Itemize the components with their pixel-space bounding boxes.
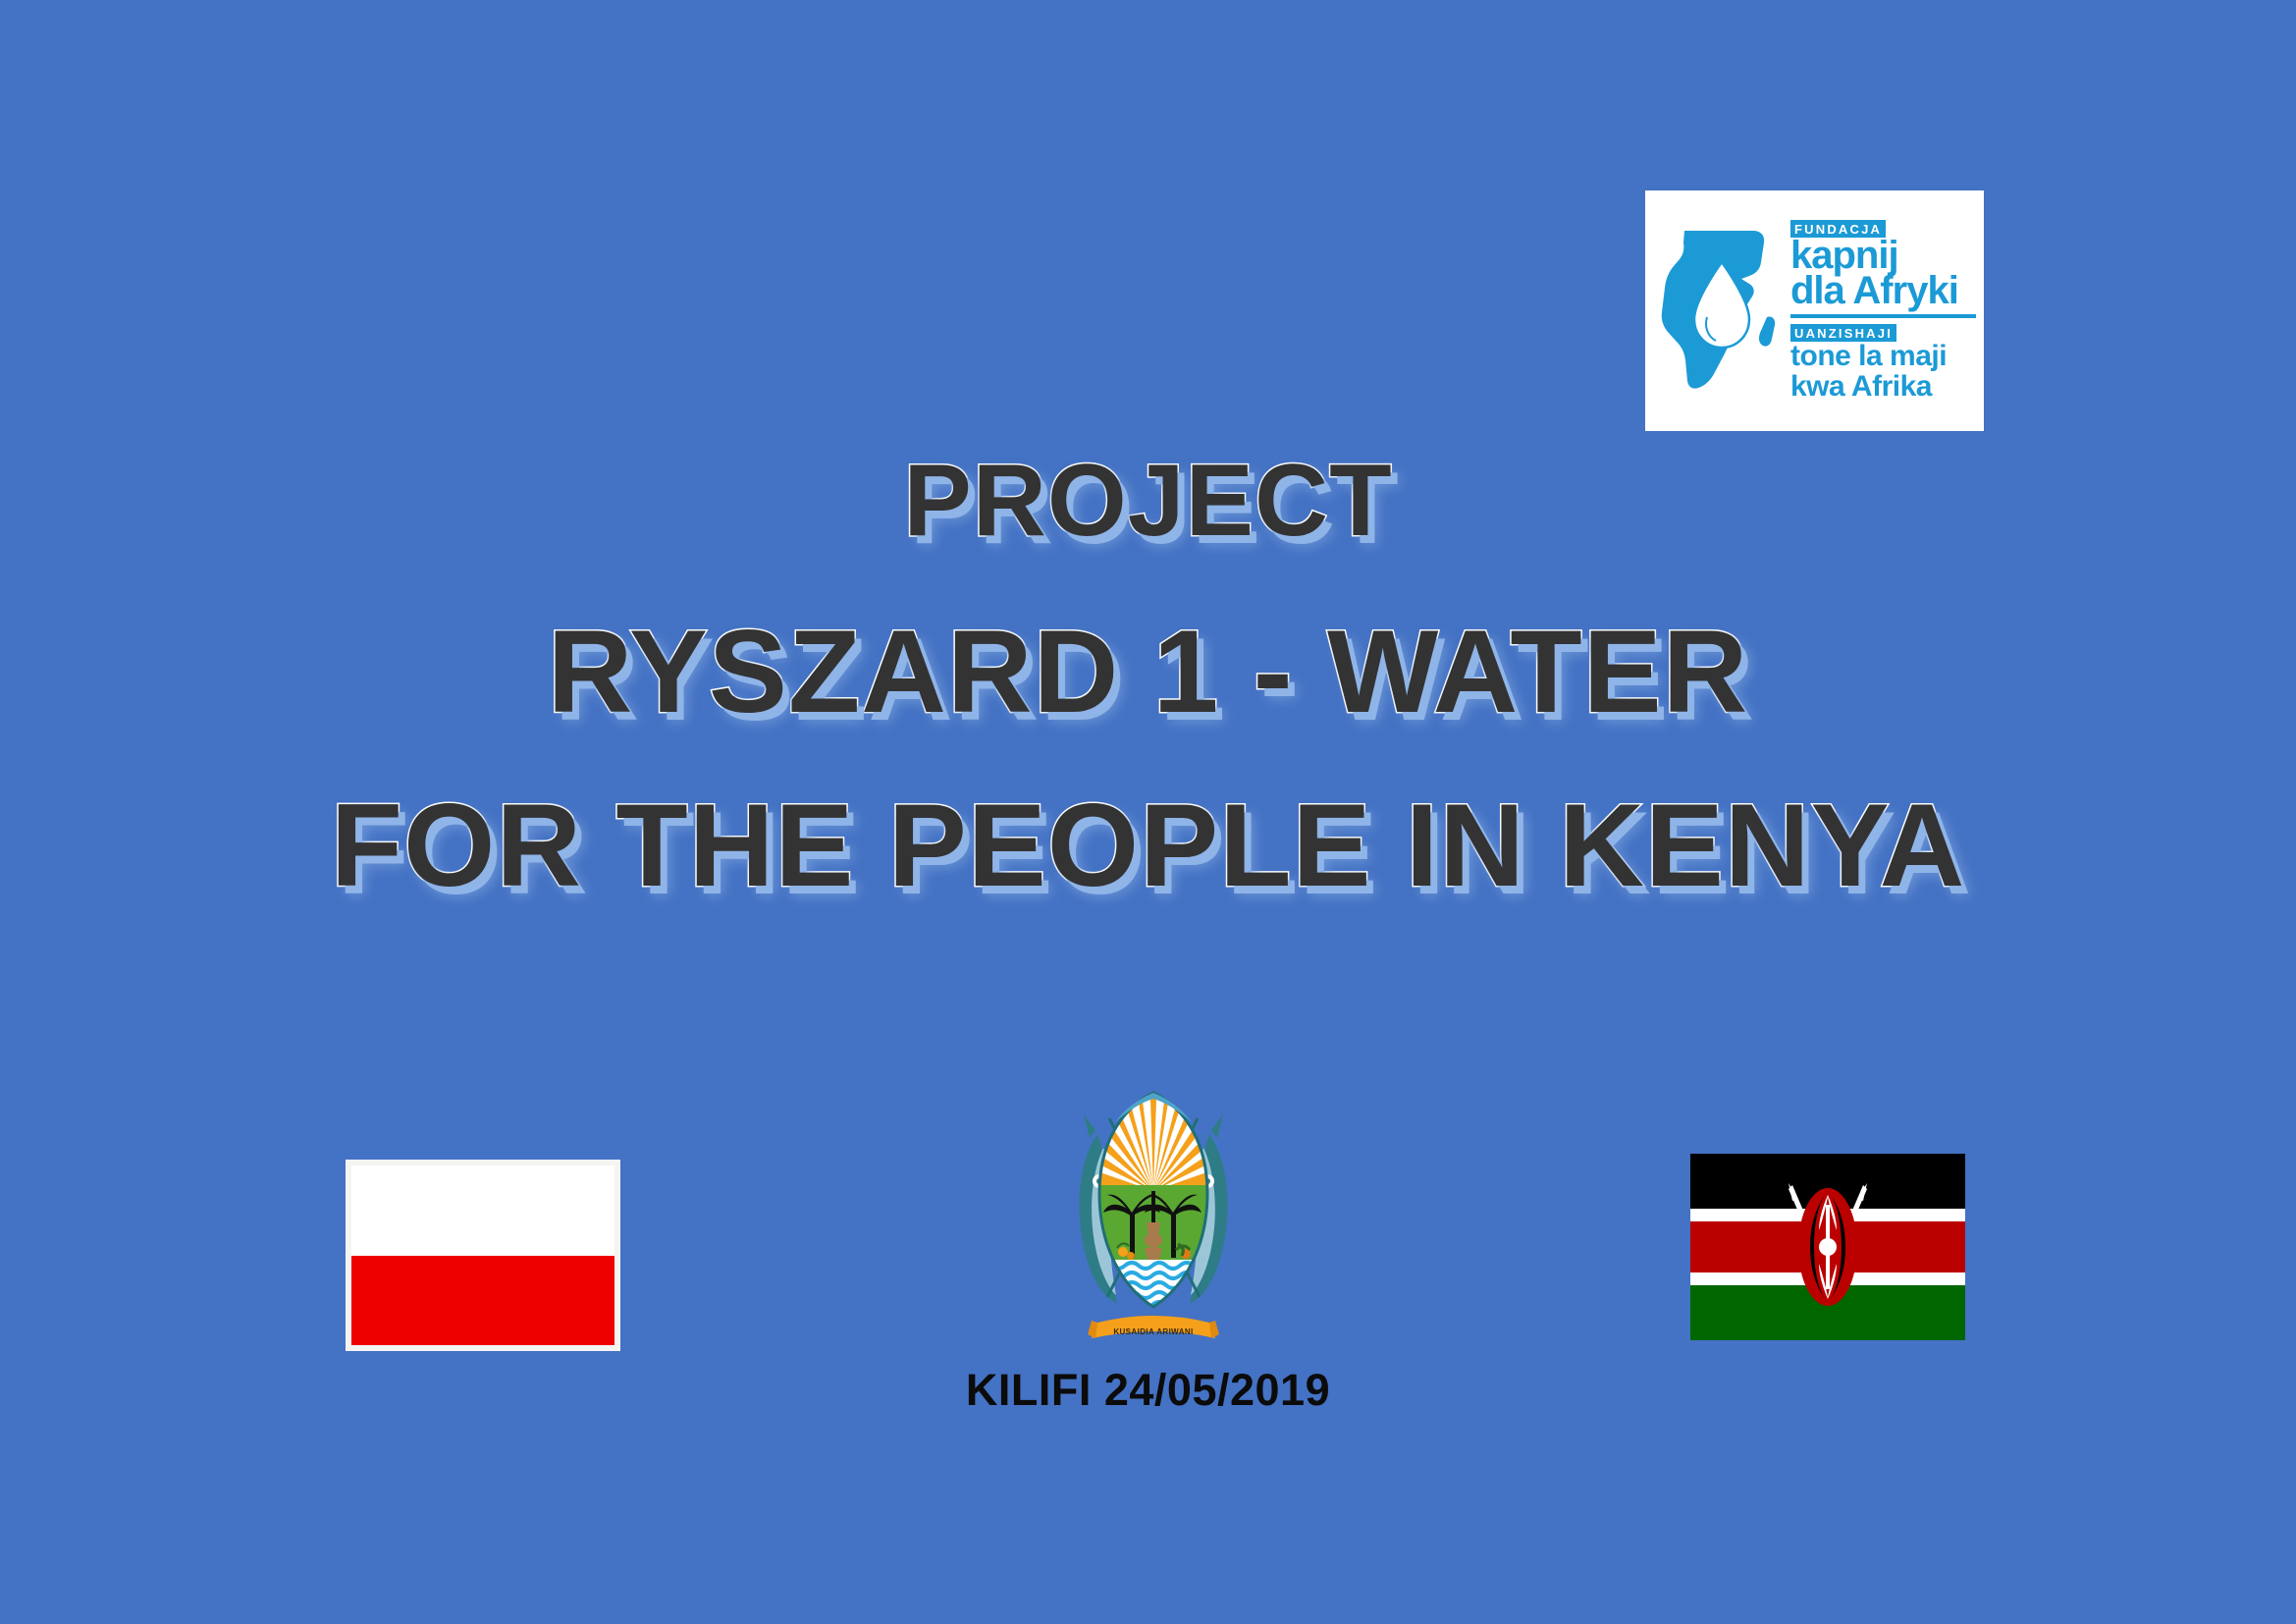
slide-caption: KILIFI 24/05/2019 bbox=[0, 1365, 2296, 1416]
slide-title-block: PROJECT RYSZARD 1 - WATER FOR THE PEOPLE… bbox=[0, 447, 2296, 909]
poland-red-band bbox=[351, 1256, 614, 1346]
motto-banner: KUSAIDIA ARIWANI bbox=[1088, 1316, 1219, 1338]
maasai-shield bbox=[1798, 1188, 1857, 1306]
logo-divider bbox=[1790, 314, 1976, 318]
logo-name-dla-afryki: dla Afryki bbox=[1790, 273, 1976, 309]
logo-inner: FUNDACJA kapnij dla Afryki UANZISHAJI to… bbox=[1645, 190, 1984, 431]
kilifi-county-coat-of-arms: KUSAIDIA ARIWANI bbox=[1060, 1075, 1247, 1340]
foundation-logo-card: FUNDACJA kapnij dla Afryki UANZISHAJI to… bbox=[1645, 190, 1984, 431]
flag-of-poland bbox=[346, 1160, 620, 1351]
logo-name-tone-la-maji: tone la maji bbox=[1790, 342, 1976, 372]
motto-text: KUSAIDIA ARIWANI bbox=[1113, 1327, 1193, 1336]
title-line-project: PROJECT bbox=[0, 447, 2296, 555]
title-line-for-the-people: FOR THE PEOPLE IN KENYA bbox=[0, 784, 2296, 908]
flag-of-kenya bbox=[1690, 1154, 1965, 1340]
logo-name-kapnij: kapnij bbox=[1790, 238, 1976, 274]
presentation-slide: FUNDACJA kapnij dla Afryki UANZISHAJI to… bbox=[0, 0, 2296, 1624]
logo-wordmark: FUNDACJA kapnij dla Afryki UANZISHAJI to… bbox=[1789, 204, 1976, 417]
title-line-ryszard-water: RYSZARD 1 - WATER bbox=[0, 610, 2296, 734]
poland-white-band bbox=[351, 1165, 614, 1256]
emblem-row: KUSAIDIA ARIWANI bbox=[0, 1075, 2296, 1350]
africa-map-waterdrop-icon bbox=[1659, 223, 1789, 400]
logo-name-kwa-afrika: kwa Afrika bbox=[1790, 372, 1976, 403]
